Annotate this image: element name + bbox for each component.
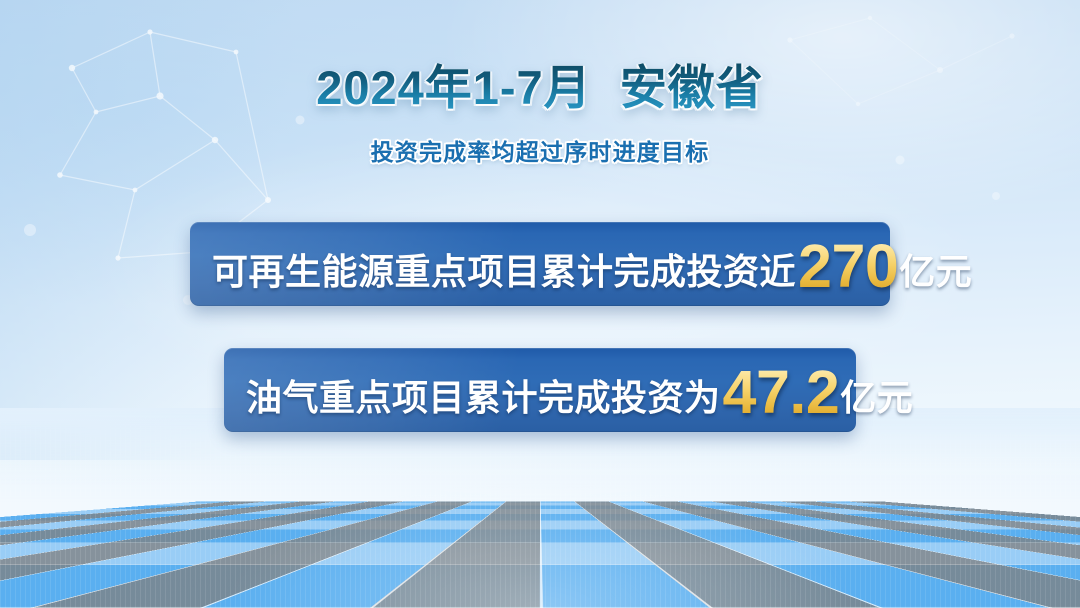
- infographic-stage: 2024年1-7月 安徽省 投资完成率均超过序时进度目标 可再生能源重点项目累计…: [0, 0, 1080, 608]
- stat-banner-list: 可再生能源重点项目累计完成投资近 270 亿元 油气重点项目累计完成投资为 47…: [0, 222, 1080, 432]
- page-title: 2024年1-7月 安徽省: [316, 62, 764, 115]
- stat-value: 270: [798, 236, 898, 297]
- stat-lead-text: 油气重点项目累计完成投资为: [246, 369, 721, 421]
- stat-banner-text: 可再生能源重点项目累计完成投资近 270 亿元: [212, 233, 868, 295]
- stat-unit: 亿元: [840, 369, 913, 421]
- heading-block: 2024年1-7月 安徽省 投资完成率均超过序时进度目标: [0, 62, 1080, 167]
- stat-unit: 亿元: [899, 243, 972, 295]
- floor-grid-lines: [0, 501, 1080, 608]
- stat-banner-renewable-energy: 可再生能源重点项目累计完成投资近 270 亿元: [190, 222, 890, 306]
- page-subtitle: 投资完成率均超过序时进度目标: [0, 133, 1080, 167]
- stat-value: 47.2: [723, 362, 840, 423]
- stat-banner-text: 油气重点项目累计完成投资为 47.2 亿元: [246, 359, 834, 421]
- stat-banner-oil-and-gas: 油气重点项目累计完成投资为 47.2 亿元: [224, 348, 856, 432]
- stat-lead-text: 可再生能源重点项目累计完成投资近: [212, 243, 796, 295]
- perspective-grid-floor: [0, 408, 1080, 608]
